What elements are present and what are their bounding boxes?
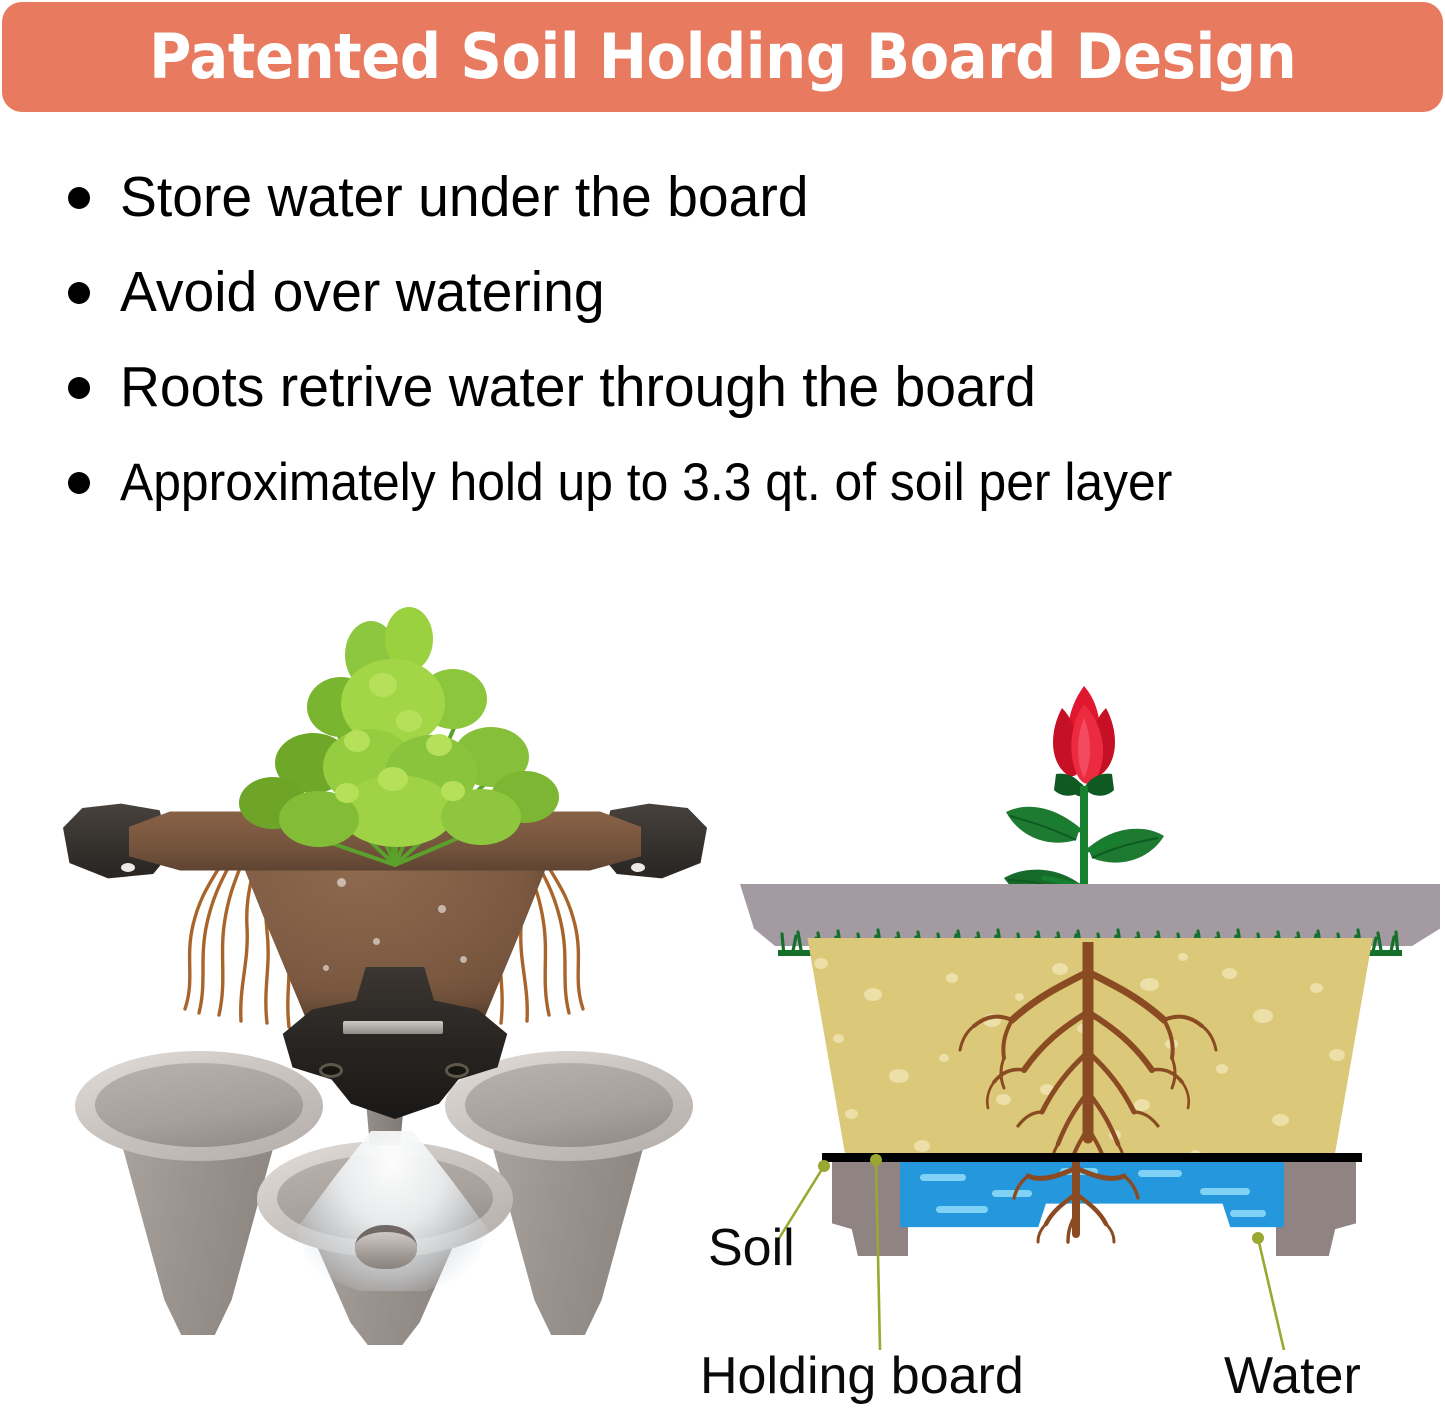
list-item: Approximately hold up to 3.3 qt. of soil…	[0, 435, 1445, 530]
plant-icon	[195, 535, 595, 875]
product-photo-stage	[55, 535, 715, 1345]
feature-bullet-list: Store water under the board Avoid over w…	[0, 150, 1445, 530]
holding-board-line	[822, 1153, 1362, 1162]
bullet-dot-icon	[68, 377, 90, 399]
list-item: Avoid over watering	[0, 245, 1445, 340]
bullet-dot-icon	[68, 472, 90, 494]
list-item: Store water under the board	[0, 150, 1445, 245]
pot-foot-right	[1276, 1160, 1356, 1256]
list-item: Roots retrive water through the board	[0, 340, 1445, 435]
label-water: Water	[1224, 1350, 1361, 1402]
bullet-label: Avoid over watering	[120, 263, 605, 323]
bullet-dot-icon	[68, 187, 90, 209]
page-title: Patented Soil Holding Board Design	[149, 26, 1296, 88]
header-banner: Patented Soil Holding Board Design	[2, 2, 1443, 112]
bullet-label: Roots retrive water through the board	[120, 358, 1036, 418]
infographic-page: Patented Soil Holding Board Design Store…	[0, 0, 1445, 1409]
product-photo	[55, 535, 715, 1345]
bullet-label: Store water under the board	[120, 168, 808, 228]
cross-section-diagram	[728, 660, 1445, 1220]
bullet-dot-icon	[68, 282, 90, 304]
board-slot-icon	[343, 1021, 443, 1034]
label-holding-board: Holding board	[700, 1350, 1024, 1402]
label-soil: Soil	[708, 1222, 795, 1274]
pot-foot-left	[832, 1160, 908, 1256]
water-outlet-icon	[355, 1225, 417, 1269]
bullet-label: Approximately hold up to 3.3 qt. of soil…	[120, 455, 1172, 511]
roots-in-water-icon	[976, 1154, 1176, 1244]
